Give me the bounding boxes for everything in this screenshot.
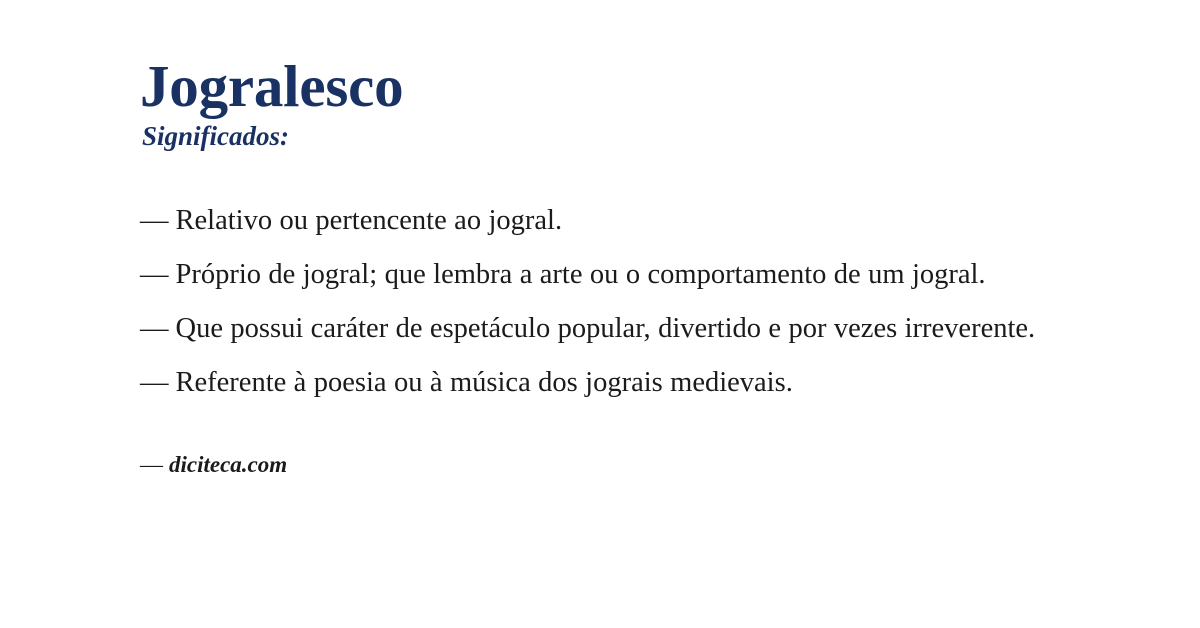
card-header: Jogralesco Significados: xyxy=(140,0,1100,152)
card-content: Jogralesco Significados: —Relativo ou pe… xyxy=(140,0,1100,477)
em-dash-icon: — xyxy=(140,367,176,398)
definitions-list: —Relativo ou pertencente ao jogral. —Pró… xyxy=(140,204,1055,400)
page-title: Jogralesco xyxy=(140,56,1100,116)
section-label: Significados: xyxy=(142,122,1100,152)
definition-text: Próprio de jogral; que lembra a arte ou … xyxy=(176,259,986,290)
en-dash-icon: — xyxy=(140,452,169,477)
em-dash-icon: — xyxy=(140,259,176,290)
attribution: —diciteca.com xyxy=(140,452,1100,477)
list-item: —Que possui caráter de espetáculo popula… xyxy=(140,312,1055,346)
em-dash-icon: — xyxy=(140,313,176,344)
definition-text: Referente à poesia ou à música dos jogra… xyxy=(176,367,793,398)
definition-card: Jogralesco Significados: —Relativo ou pe… xyxy=(0,0,1200,628)
em-dash-icon: — xyxy=(140,205,176,236)
list-item: —Relativo ou pertencente ao jogral. xyxy=(140,204,1055,238)
definition-text: Relativo ou pertencente ao jogral. xyxy=(176,205,563,236)
source-name: diciteca.com xyxy=(169,452,287,477)
list-item: —Próprio de jogral; que lembra a arte ou… xyxy=(140,258,1055,292)
list-item: —Referente à poesia ou à música dos jogr… xyxy=(140,366,1055,400)
definition-text: Que possui caráter de espetáculo popular… xyxy=(176,313,1036,344)
